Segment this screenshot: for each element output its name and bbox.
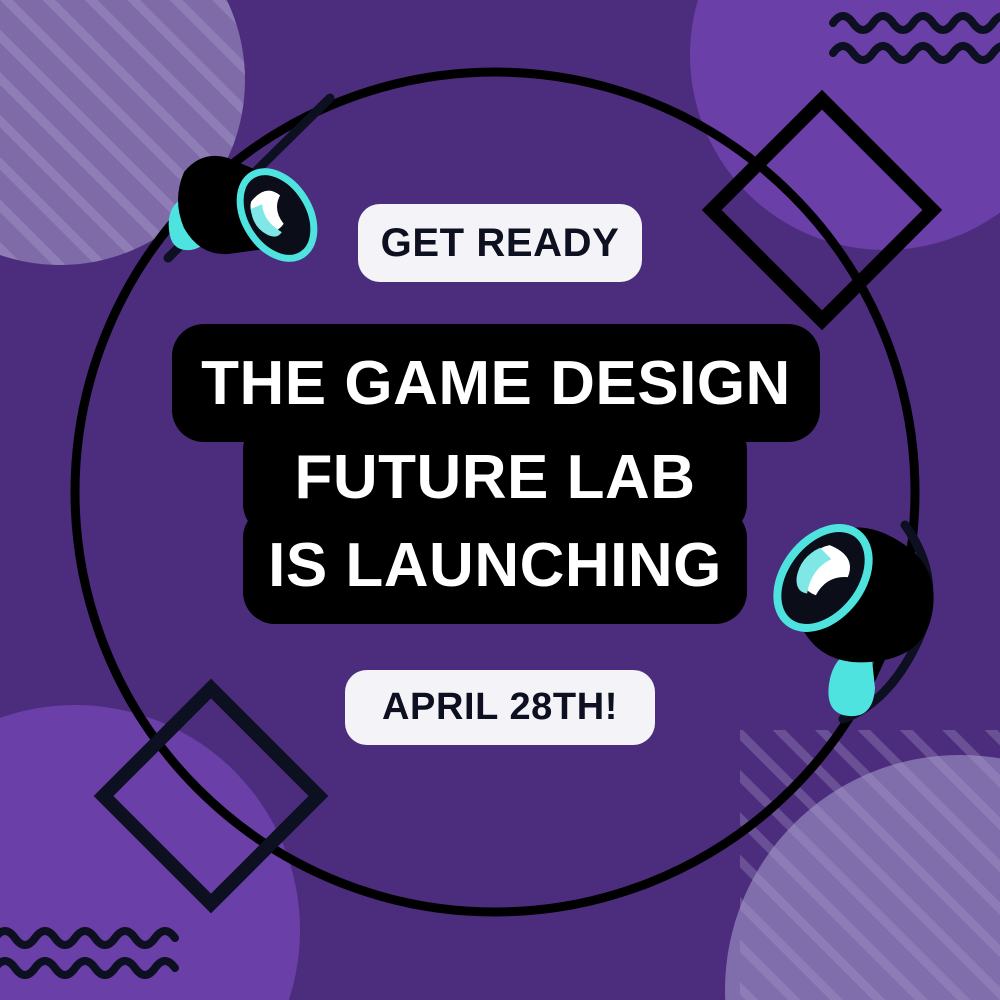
eyebrow-badge: GET READY xyxy=(358,204,642,282)
date-badge: APRIL 28TH! xyxy=(345,670,655,745)
headline-line-3: IS LAUNCHING xyxy=(243,506,747,624)
promo-poster: GET READY THE GAME DESIGN FUTURE LAB IS … xyxy=(0,0,1000,1000)
poster-content: GET READY THE GAME DESIGN FUTURE LAB IS … xyxy=(0,0,1000,1000)
headline-block: THE GAME DESIGN FUTURE LAB IS LAUNCHING xyxy=(0,0,1000,1000)
